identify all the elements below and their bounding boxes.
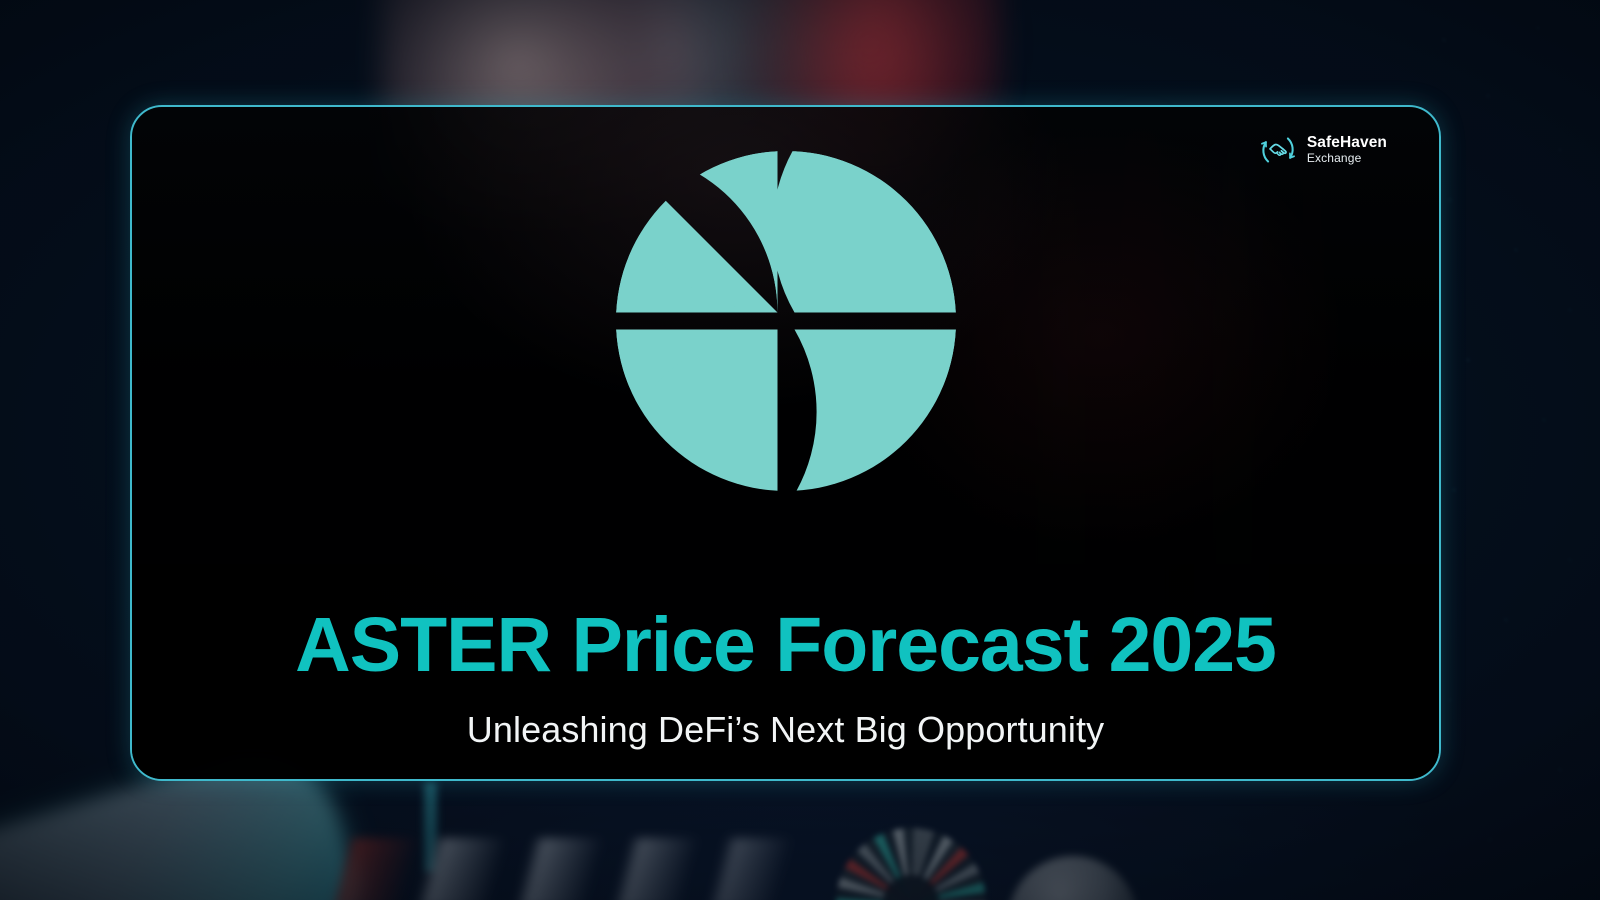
- page-subtitle: Unleashing DeFi’s Next Big Opportunity: [132, 710, 1439, 750]
- brand-text-block: SafeHaven Exchange: [1307, 135, 1387, 165]
- page-title: ASTER Price Forecast 2025: [132, 607, 1439, 684]
- handshake-circle-icon: [1259, 131, 1297, 169]
- aster-four-petal-logo: [616, 151, 956, 491]
- brand-name: SafeHaven: [1307, 135, 1387, 151]
- hero-text-block: ASTER Price Forecast 2025 Unleashing DeF…: [132, 607, 1439, 781]
- brand-watermark: SafeHaven Exchange: [1259, 131, 1387, 169]
- promo-banner: SafeHaven Exchange: [0, 0, 1600, 900]
- brand-subtitle: Exchange: [1307, 152, 1387, 165]
- hero-card: SafeHaven Exchange: [130, 105, 1441, 781]
